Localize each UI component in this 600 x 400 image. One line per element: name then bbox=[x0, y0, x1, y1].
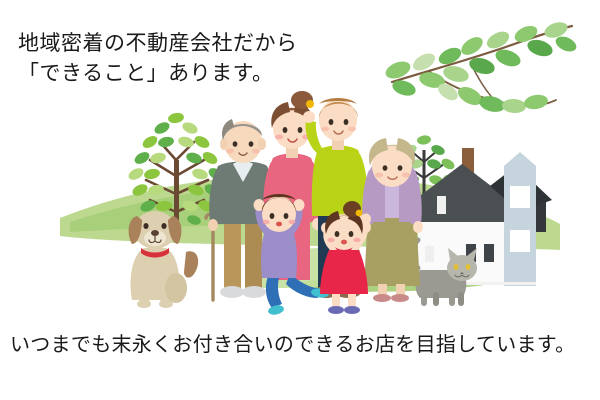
green-hill bbox=[60, 174, 560, 292]
person-grandmother bbox=[361, 138, 423, 302]
promo-banner: 地域密着の不動産会社だから 「できること」あります。 いつまでも末永くお付き合い… bbox=[0, 0, 600, 400]
person-boy bbox=[254, 194, 330, 316]
headline-line-1: 地域密着の不動産会社だから bbox=[18, 28, 298, 58]
tree-left-icon bbox=[127, 112, 226, 238]
person-mother bbox=[262, 91, 322, 280]
leaf-branch-icon bbox=[383, 19, 579, 114]
house-icon bbox=[412, 148, 552, 286]
dog-icon bbox=[129, 211, 199, 308]
person-girl bbox=[320, 201, 371, 314]
cat-icon bbox=[413, 240, 477, 306]
tagline: いつまでも末永くお付き合いのできるお店を目指しています。 bbox=[10, 331, 575, 357]
tree-right-icon bbox=[390, 135, 459, 240]
person-father bbox=[303, 98, 369, 298]
headline: 地域密着の不動産会社だから 「できること」あります。 bbox=[18, 28, 298, 88]
headline-line-2: 「できること」あります。 bbox=[18, 58, 298, 88]
person-grandfather bbox=[206, 119, 277, 300]
